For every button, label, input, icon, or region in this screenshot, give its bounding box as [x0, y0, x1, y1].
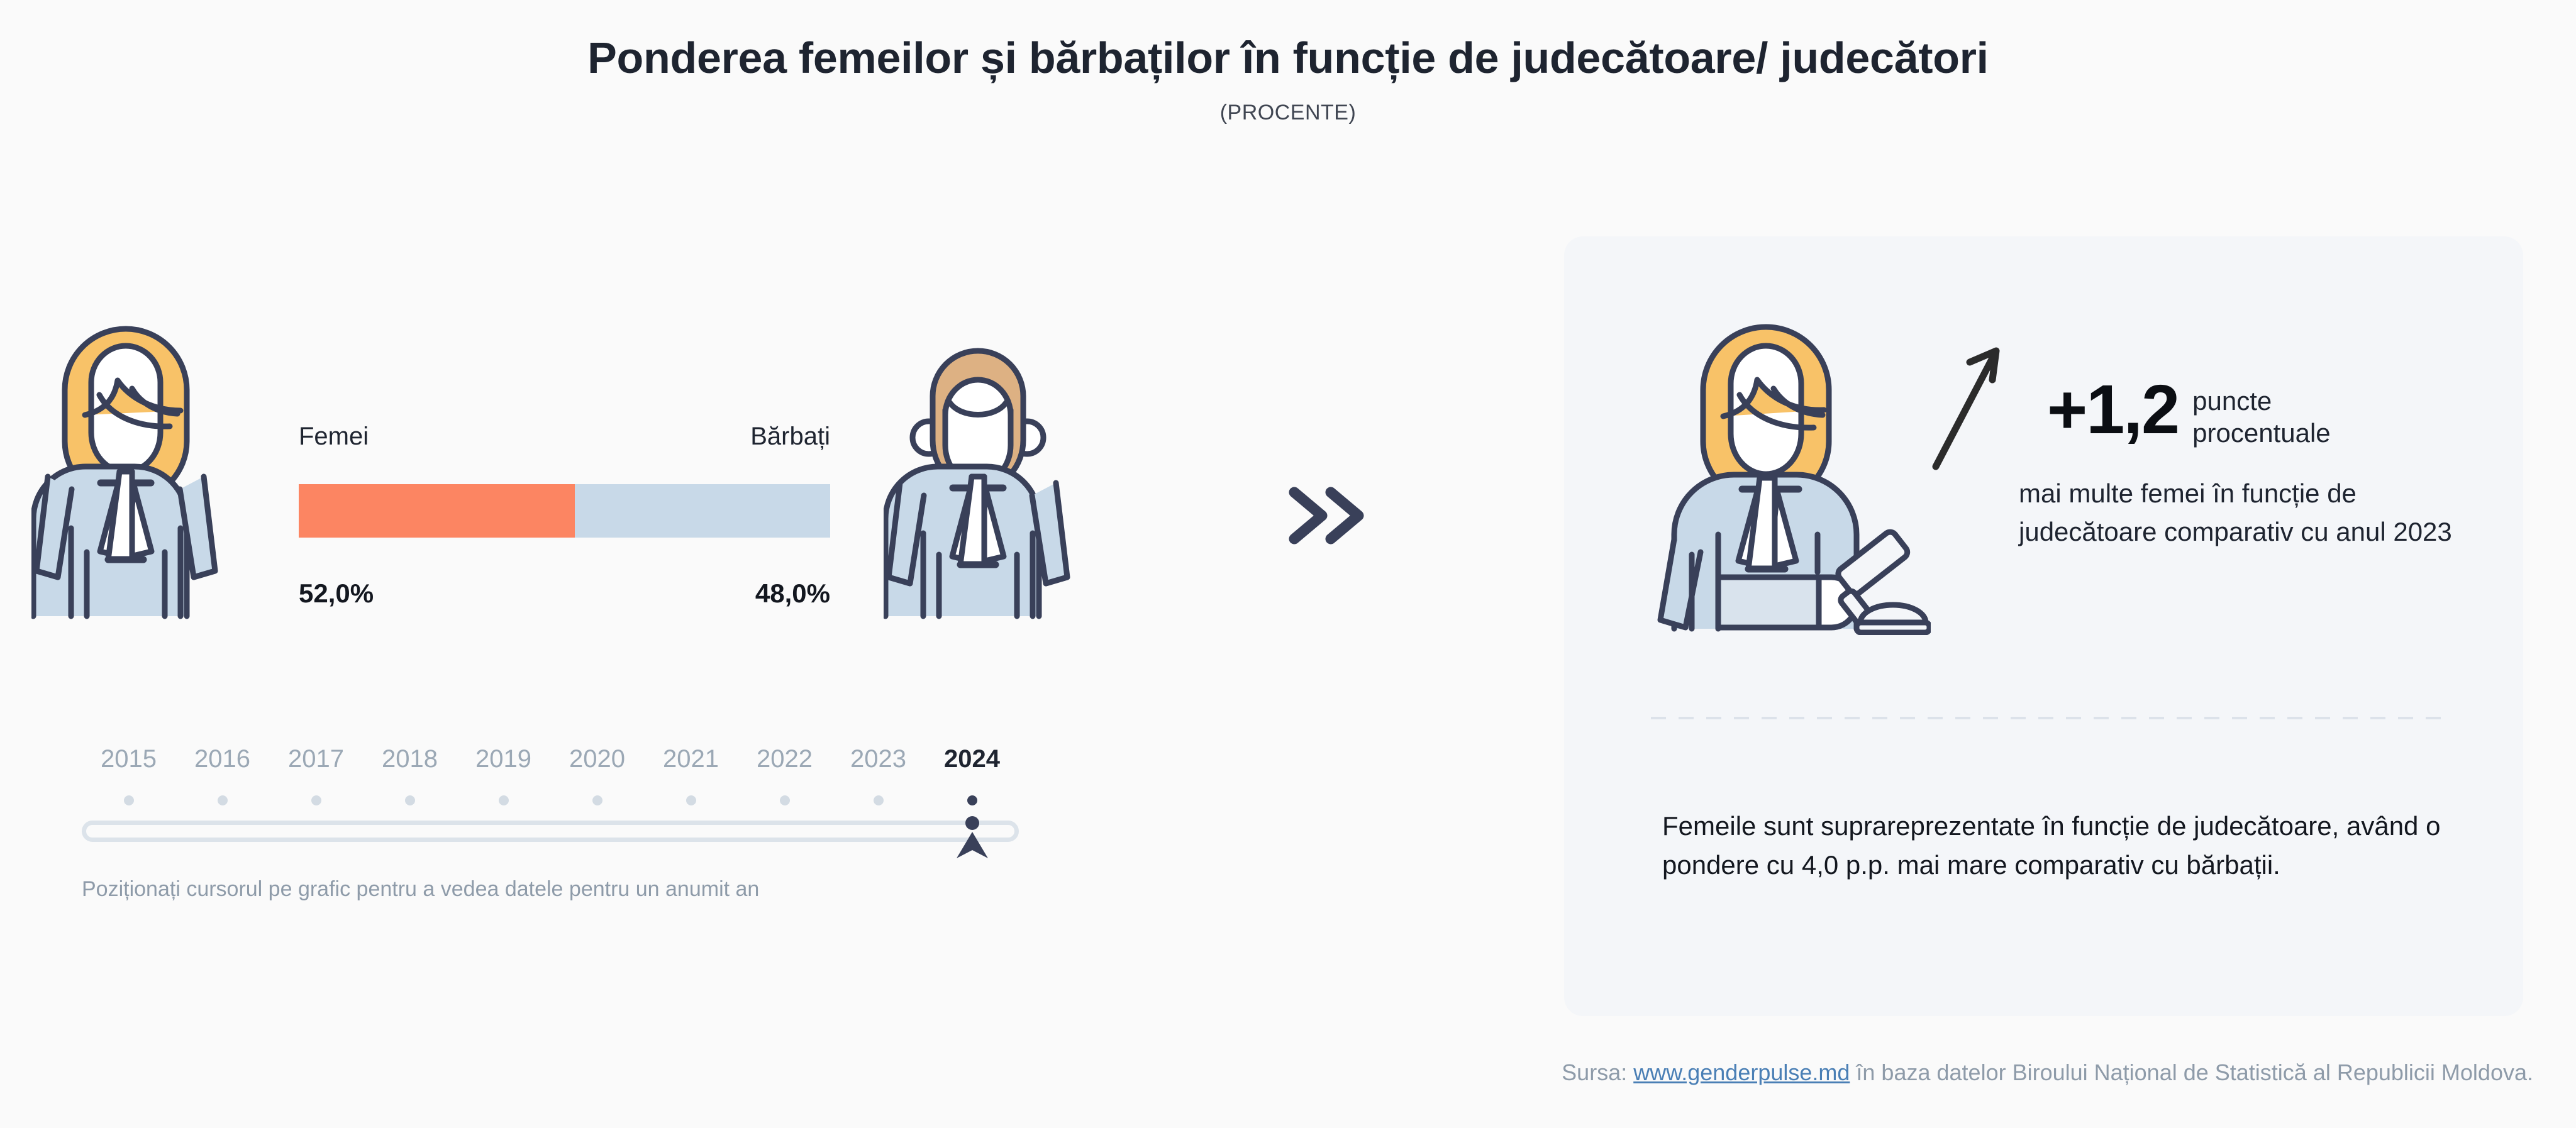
timeline-year-2019[interactable]: 2019: [475, 745, 531, 773]
stat-highlight: +1,2 puncte procentuale: [2047, 377, 2331, 449]
stat-description: mai multe femei în funcție de judecătoar…: [2019, 475, 2472, 551]
timeline-year-2016[interactable]: 2016: [194, 745, 250, 773]
timeline-dot-2022[interactable]: [780, 795, 790, 805]
source-link[interactable]: www.genderpulse.md: [1633, 1059, 1850, 1085]
gender-share-bar[interactable]: [299, 484, 830, 538]
timeline-year-2017[interactable]: 2017: [288, 745, 344, 773]
timeline-hint-text: Poziționați cursorul pe grafic pentru a …: [82, 877, 759, 902]
source-footer: Sursa: www.genderpulse.md în baza datelo…: [0, 1059, 2533, 1086]
double-chevron-right-icon: [1277, 475, 1371, 556]
timeline-dot-2021[interactable]: [686, 795, 696, 805]
card-note-text: Femeile sunt suprareprezentate în funcți…: [1662, 807, 2448, 885]
timeline-dot-2024[interactable]: [967, 795, 977, 805]
trend-up-arrow-icon: [1924, 333, 2044, 478]
left-chart-block: Femei Bărbați 52,0% 48,0% 20152016201720…: [0, 0, 1509, 1128]
bar-label-female: Femei: [299, 423, 369, 451]
timeline-dot-2020[interactable]: [592, 795, 602, 805]
bar-segment-female[interactable]: [299, 484, 575, 538]
bar-value-labels: 52,0% 48,0%: [299, 578, 830, 609]
bar-category-labels: Femei Bărbați: [299, 423, 830, 451]
judge-with-gavel-icon: [1635, 321, 1931, 635]
male-judge-icon: [884, 321, 1072, 622]
card-divider: [1651, 717, 2446, 719]
female-judge-icon: [31, 321, 220, 622]
bar-value-female: 52,0%: [299, 578, 374, 609]
bar-label-male: Bărbați: [750, 423, 830, 451]
timeline-year-2018[interactable]: 2018: [382, 745, 438, 773]
stat-unit-line1: puncte: [2192, 386, 2272, 416]
timeline-dot-2015[interactable]: [124, 795, 134, 805]
timeline-dot-2019[interactable]: [499, 795, 509, 805]
source-suffix: în baza datelor Biroului Național de Sta…: [1850, 1059, 2533, 1085]
timeline-dot-2016[interactable]: [218, 795, 228, 805]
year-timeline-slider[interactable]: 2015201620172018201920202021202220232024: [82, 745, 1019, 852]
stat-unit-line2: procentuale: [2192, 418, 2331, 448]
year-tick-dots[interactable]: [82, 795, 1019, 809]
timeline-year-2015[interactable]: 2015: [101, 745, 157, 773]
infographic-page: Ponderea femeilor și bărbaților în funcț…: [0, 0, 2576, 1128]
bar-segment-male[interactable]: [575, 484, 830, 538]
slider-cursor-handle[interactable]: [953, 816, 992, 861]
slider-track[interactable]: [82, 821, 1019, 842]
timeline-year-2021[interactable]: 2021: [663, 745, 719, 773]
stat-value: +1,2: [2047, 377, 2179, 443]
timeline-year-2024[interactable]: 2024: [944, 745, 1000, 773]
year-labels[interactable]: 2015201620172018201920202021202220232024: [82, 745, 1019, 783]
timeline-year-2023[interactable]: 2023: [850, 745, 906, 773]
timeline-year-2022[interactable]: 2022: [757, 745, 813, 773]
bar-value-male: 48,0%: [755, 578, 830, 609]
timeline-dot-2023[interactable]: [874, 795, 884, 805]
timeline-dot-2017[interactable]: [311, 795, 321, 805]
source-prefix: Sursa:: [1562, 1059, 1633, 1085]
timeline-dot-2018[interactable]: [405, 795, 415, 805]
timeline-year-2020[interactable]: 2020: [569, 745, 625, 773]
stat-unit: puncte procentuale: [2192, 385, 2331, 449]
